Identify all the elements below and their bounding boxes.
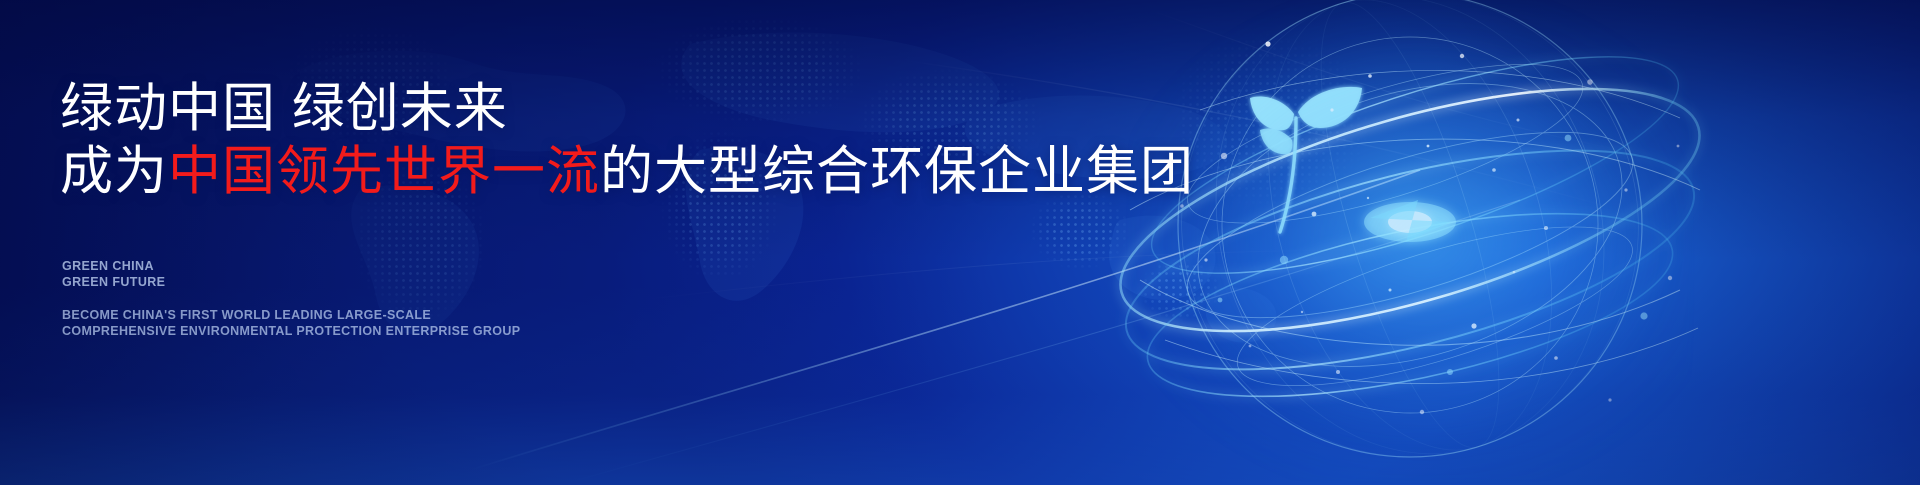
- headline-suffix: 的大型综合环保企业集团: [600, 142, 1194, 201]
- banner-text-block: 绿动中国 绿创未来 成为中国领先世界一流的大型综合环保企业集团 GREEN CH…: [60, 0, 1060, 485]
- headline-highlight: 中国领先世界一流: [168, 142, 600, 201]
- description-line-2: COMPREHENSIVE ENVIRONMENTAL PROTECTION E…: [62, 323, 520, 339]
- slogan-line-1: GREEN CHINA: [62, 258, 165, 274]
- headline-line-1: 绿动中国 绿创未来: [60, 78, 1194, 141]
- slogan-line-2: GREEN FUTURE: [62, 274, 165, 290]
- headline-prefix: 成为: [60, 142, 168, 201]
- globe-graphic: [1070, 0, 1770, 485]
- hero-banner: 绿动中国 绿创未来 成为中国领先世界一流的大型综合环保企业集团 GREEN CH…: [0, 0, 1920, 485]
- globe-glow: [1130, 0, 1690, 480]
- headline-line-2: 成为中国领先世界一流的大型综合环保企业集团: [60, 141, 1194, 204]
- slogan-english: GREEN CHINA GREEN FUTURE: [62, 258, 165, 290]
- description-english: BECOME CHINA'S FIRST WORLD LEADING LARGE…: [62, 307, 520, 340]
- headline: 绿动中国 绿创未来 成为中国领先世界一流的大型综合环保企业集团: [60, 78, 1194, 203]
- description-line-1: BECOME CHINA'S FIRST WORLD LEADING LARGE…: [62, 307, 520, 323]
